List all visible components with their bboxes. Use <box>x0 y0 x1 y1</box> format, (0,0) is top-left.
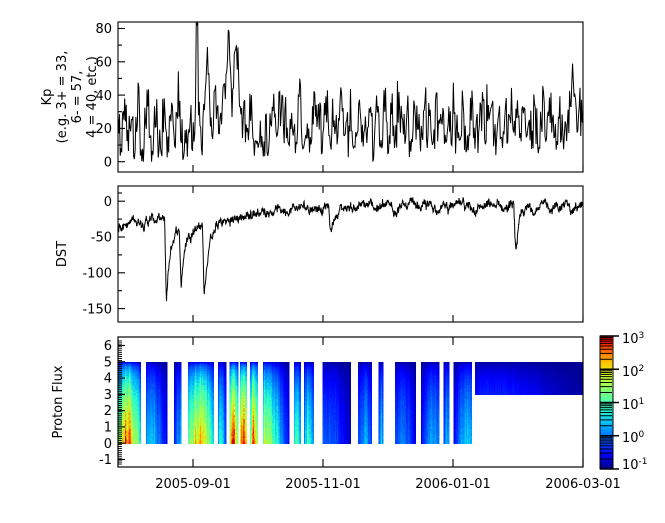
kp-axis-label-line2: 6- = 57, <box>70 71 85 124</box>
dst-ytick-label-0: 0 <box>104 195 112 210</box>
panel-dst: -150 -100 -50 0 DST <box>55 186 583 322</box>
kp-axis-label-line1: (e.g. 3+ = 33, <box>55 51 70 144</box>
dst-axis-label: DST <box>55 241 70 267</box>
kp-axis-label-line0: Kp <box>40 89 55 106</box>
xtick-label-3: 2006-03-01 <box>545 477 621 492</box>
figure-root: 0 20 40 60 80 Kp (e.g. 3+ = 33, 6- = 57,… <box>0 0 665 523</box>
kp-axis-label-line3: 4 = 40, etc.) <box>85 56 100 138</box>
proton-flux-ytick-label-6: 6 <box>104 339 112 354</box>
proton-flux-ytick-label--1: -1 <box>99 453 112 468</box>
cb-mant-3: 10 <box>622 332 639 347</box>
dst-ytick-label--100: -100 <box>82 267 112 282</box>
proton-flux-ytick-label-0: 0 <box>104 437 112 452</box>
figure-svg: 0 20 40 60 80 Kp (e.g. 3+ = 33, 6- = 57,… <box>0 0 665 523</box>
cb-exp-2: 2 <box>639 364 645 374</box>
cb-exp-3: 3 <box>639 331 645 341</box>
xtick-label-0: 2005-09-01 <box>155 477 231 492</box>
kp-ytick-label-0: 0 <box>104 155 112 170</box>
cb-exp--1: -1 <box>639 457 648 467</box>
proton-flux-ytick-label-3: 3 <box>104 388 112 403</box>
dst-ytick-label--50: -50 <box>91 231 112 246</box>
cb-exp-1: 1 <box>639 397 645 407</box>
proton-flux-ytick-label-1: 1 <box>104 421 112 436</box>
xtick-label-1: 2005-11-01 <box>285 477 361 492</box>
proton-flux-ytick-label-2: 2 <box>104 404 112 419</box>
proton-flux-axis-label: Proton Flux <box>51 365 66 438</box>
cb-exp-0: 0 <box>639 430 645 440</box>
cb-mant-2: 10 <box>622 365 639 380</box>
dst-ytick-label--150: -150 <box>82 302 112 317</box>
cb-mant-0: 10 <box>622 431 639 446</box>
proton-flux-ytick-label-5: 5 <box>104 355 112 370</box>
proton-flux-ytick-label-4: 4 <box>104 372 112 387</box>
xtick-label-2: 2006-01-01 <box>415 477 491 492</box>
panel-kp: 0 20 40 60 80 Kp (e.g. 3+ = 33, 6- = 57,… <box>40 22 584 172</box>
kp-ytick-label-80: 80 <box>95 22 112 37</box>
cb-mant-1: 10 <box>622 398 639 413</box>
cb-mant--1: 10 <box>622 458 639 473</box>
